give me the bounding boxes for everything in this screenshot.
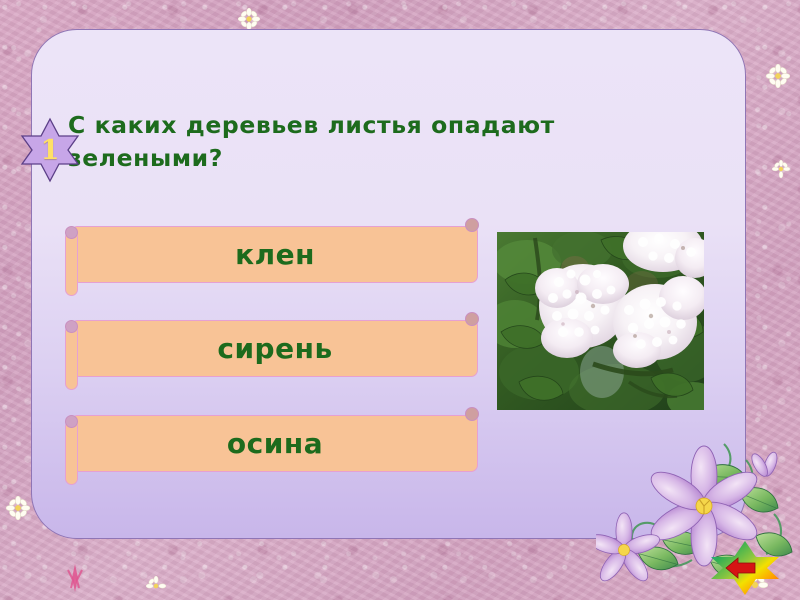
answer-option-1-label: клен	[235, 238, 315, 271]
lilac-photo	[497, 232, 704, 410]
question-text: С каких деревьев листья опадают зелеными…	[68, 109, 658, 175]
daisy-icon	[146, 576, 166, 600]
answer-option-1-body[interactable]: клен	[72, 226, 478, 283]
answer-option-2-body[interactable]: сирень	[72, 320, 478, 377]
back-navigation-button[interactable]	[704, 540, 786, 596]
answer-option-3-label: осина	[227, 427, 323, 460]
daisy-icon	[772, 160, 790, 182]
scroll-left-roll	[65, 420, 78, 485]
scroll-knob-left-icon	[65, 415, 78, 428]
scroll-knob-right-icon	[465, 407, 479, 421]
scroll-knob-right-icon	[465, 218, 479, 232]
answer-option-2[interactable]: сирень	[62, 320, 478, 377]
answer-option-3[interactable]: осина	[62, 415, 478, 472]
scroll-left-roll	[65, 231, 78, 296]
scroll-knob-left-icon	[65, 226, 78, 239]
pink-sprig-icon	[62, 562, 88, 600]
daisy-icon	[766, 64, 790, 92]
answer-option-3-body[interactable]: осина	[72, 415, 478, 472]
scroll-knob-right-icon	[465, 312, 479, 326]
scroll-knob-left-icon	[65, 320, 78, 333]
daisy-icon	[6, 496, 30, 524]
answer-option-2-label: сирень	[217, 332, 332, 365]
question-number-star: 1	[17, 117, 83, 183]
slide-canvas: 1 С каких деревьев листья опадают зелены…	[0, 0, 800, 600]
question-number: 1	[17, 117, 83, 183]
scroll-left-roll	[65, 325, 78, 390]
answer-option-1[interactable]: клен	[62, 226, 478, 283]
